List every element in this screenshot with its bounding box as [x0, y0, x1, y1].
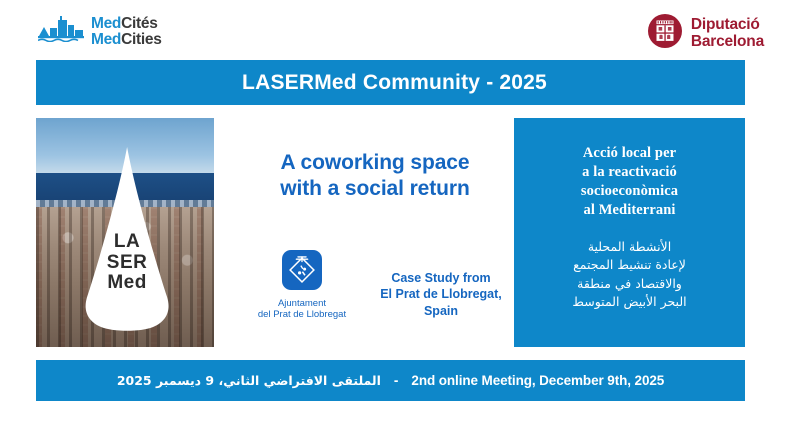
title-banner: LASERMed Community - 2025: [36, 60, 745, 105]
footer-arabic-text: الملتقى الافتراضي الثاني، 9 ديسمبر 2025: [117, 373, 381, 388]
side-panel-arabic-text: الأنشطة المحلية لإعادة تنشيط المجتمع وال…: [572, 238, 686, 312]
headline: A coworking space with a social return: [246, 150, 504, 202]
medcities-skyline-icon: [38, 16, 84, 47]
medcities-line1-rest: Cités: [121, 15, 157, 32]
ajuntament-caption-line-1: Ajuntament: [278, 298, 326, 309]
side-panel-catalan-text: Acció local per a la reactivació socioec…: [581, 144, 678, 221]
diputacio-line-1: Diputació: [691, 17, 764, 33]
medcities-line1-med: Med: [91, 15, 121, 32]
footer-separator: -: [394, 373, 399, 388]
lasermed-pin-icon: LA SER Med: [75, 145, 179, 341]
medcities-line-1: MedCités: [91, 16, 162, 32]
diputacio-barcelona-logo: Diputació Barcelona: [648, 14, 764, 53]
medcities-line2-med: Med: [91, 31, 121, 48]
medcities-line-2: MedCities: [91, 32, 162, 48]
pin-line-1: LA: [114, 232, 140, 251]
diputacio-crest-icon: [648, 14, 682, 53]
ajuntament-prat-llobregat-icon: [282, 250, 322, 295]
header-bar: MedCités MedCities: [0, 0, 800, 58]
diputacio-line-2: Barcelona: [691, 34, 764, 50]
ajuntament-caption: Ajuntament del Prat de Llobregat: [258, 298, 346, 320]
case-study-text: Case Study from El Prat de Llobregat, Sp…: [375, 250, 507, 319]
footer-english-text: 2nd online Meeting, December 9th, 2025: [411, 373, 664, 388]
page-title: LASERMed Community - 2025: [234, 71, 547, 95]
ajuntament-caption-line-2: del Prat de Llobregat: [258, 309, 346, 320]
pin-line-3: Med: [107, 273, 147, 292]
side-panel: Acció local per a la reactivació socioec…: [514, 118, 745, 347]
lasermed-pin-label: LA SER Med: [75, 145, 179, 341]
medcities-line2-rest: Cities: [121, 31, 161, 48]
mediterranean-city-photo: LA SER Med: [36, 118, 214, 347]
medcities-logo: MedCités MedCities: [38, 16, 162, 48]
footer-bar: الملتقى الافتراضي الثاني، 9 ديسمبر 2025 …: [36, 360, 745, 401]
diputacio-wordmark: Diputació Barcelona: [691, 17, 764, 50]
ajuntament-logo: Ajuntament del Prat de Llobregat: [247, 250, 357, 320]
pin-line-2: SER: [107, 253, 148, 272]
credits-row: Ajuntament del Prat de Llobregat Case St…: [246, 250, 508, 320]
medcities-wordmark: MedCités MedCities: [91, 16, 162, 48]
